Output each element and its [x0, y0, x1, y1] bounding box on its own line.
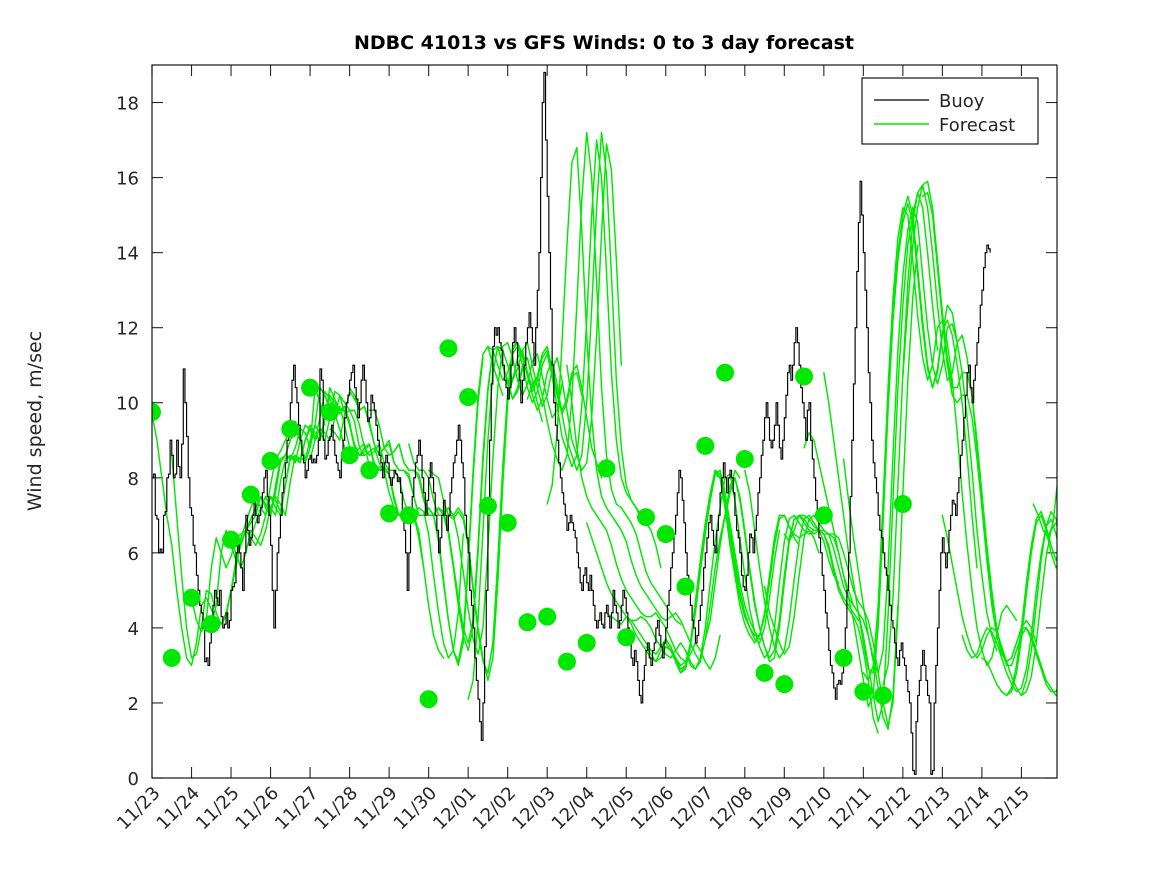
forecast-marker-dot [578, 634, 596, 652]
forecast-marker-dot [479, 497, 497, 515]
forecast-marker-dot [716, 364, 734, 382]
forecast-marker-dot [617, 628, 635, 646]
chart-legend[interactable]: Buoy Forecast [862, 78, 1038, 144]
forecast-marker-dot [360, 461, 378, 479]
forecast-marker-dot [262, 452, 280, 470]
y-tick-label: 4 [128, 619, 139, 640]
y-tick-label: 0 [128, 769, 139, 790]
y-tick-label: 8 [128, 469, 139, 490]
y-tick-label: 16 [116, 169, 139, 190]
forecast-marker-dot [499, 514, 517, 532]
forecast-marker-dot [775, 675, 793, 693]
forecast-marker-dot [657, 525, 675, 543]
forecast-marker-dot [874, 686, 892, 704]
forecast-marker-dot [242, 486, 260, 504]
forecast-marker-dot [518, 613, 536, 631]
forecast-marker-dot [597, 459, 615, 477]
forecast-marker-dot [400, 506, 418, 524]
y-tick-label: 14 [116, 244, 139, 265]
forecast-marker-dot [183, 589, 201, 607]
forecast-marker-dot [756, 664, 774, 682]
y-axis-label: Wind speed, m/sec [24, 331, 46, 511]
forecast-marker-dot [281, 420, 299, 438]
figure-container: NDBC 41013 vs GFS Winds: 0 to 3 day fore… [0, 0, 1167, 875]
forecast-marker-dot [815, 506, 833, 524]
forecast-marker-dot [420, 690, 438, 708]
wind-speed-chart: NDBC 41013 vs GFS Winds: 0 to 3 day fore… [0, 0, 1167, 875]
forecast-marker-dot [341, 446, 359, 464]
y-tick-label: 18 [116, 94, 139, 115]
forecast-marker-dot [439, 339, 457, 357]
forecast-marker-dot [538, 608, 556, 626]
forecast-marker-dot [321, 403, 339, 421]
y-tick-label: 10 [116, 394, 139, 415]
y-tick-label: 6 [128, 544, 139, 565]
forecast-marker-dot [380, 504, 398, 522]
forecast-marker-dot [202, 615, 220, 633]
legend-label-buoy: Buoy [939, 91, 985, 112]
forecast-marker-dot [835, 649, 853, 667]
forecast-marker-dot [696, 437, 714, 455]
y-tick-label: 12 [116, 319, 139, 340]
forecast-marker-dot [459, 388, 477, 406]
page-title: NDBC 41013 vs GFS Winds: 0 to 3 day fore… [354, 32, 854, 54]
forecast-marker-dot [854, 683, 872, 701]
forecast-marker-dot [795, 367, 813, 385]
forecast-marker-dot [558, 653, 576, 671]
forecast-marker-dot [301, 379, 319, 397]
forecast-marker-dot [163, 649, 181, 667]
forecast-marker-dot [736, 450, 754, 468]
forecast-marker-dot [677, 578, 695, 596]
forecast-marker-dot [637, 508, 655, 526]
forecast-marker-dot [894, 495, 912, 513]
y-tick-label: 2 [128, 694, 139, 715]
legend-label-forecast: Forecast [939, 115, 1015, 136]
forecast-marker-dot [222, 531, 240, 549]
